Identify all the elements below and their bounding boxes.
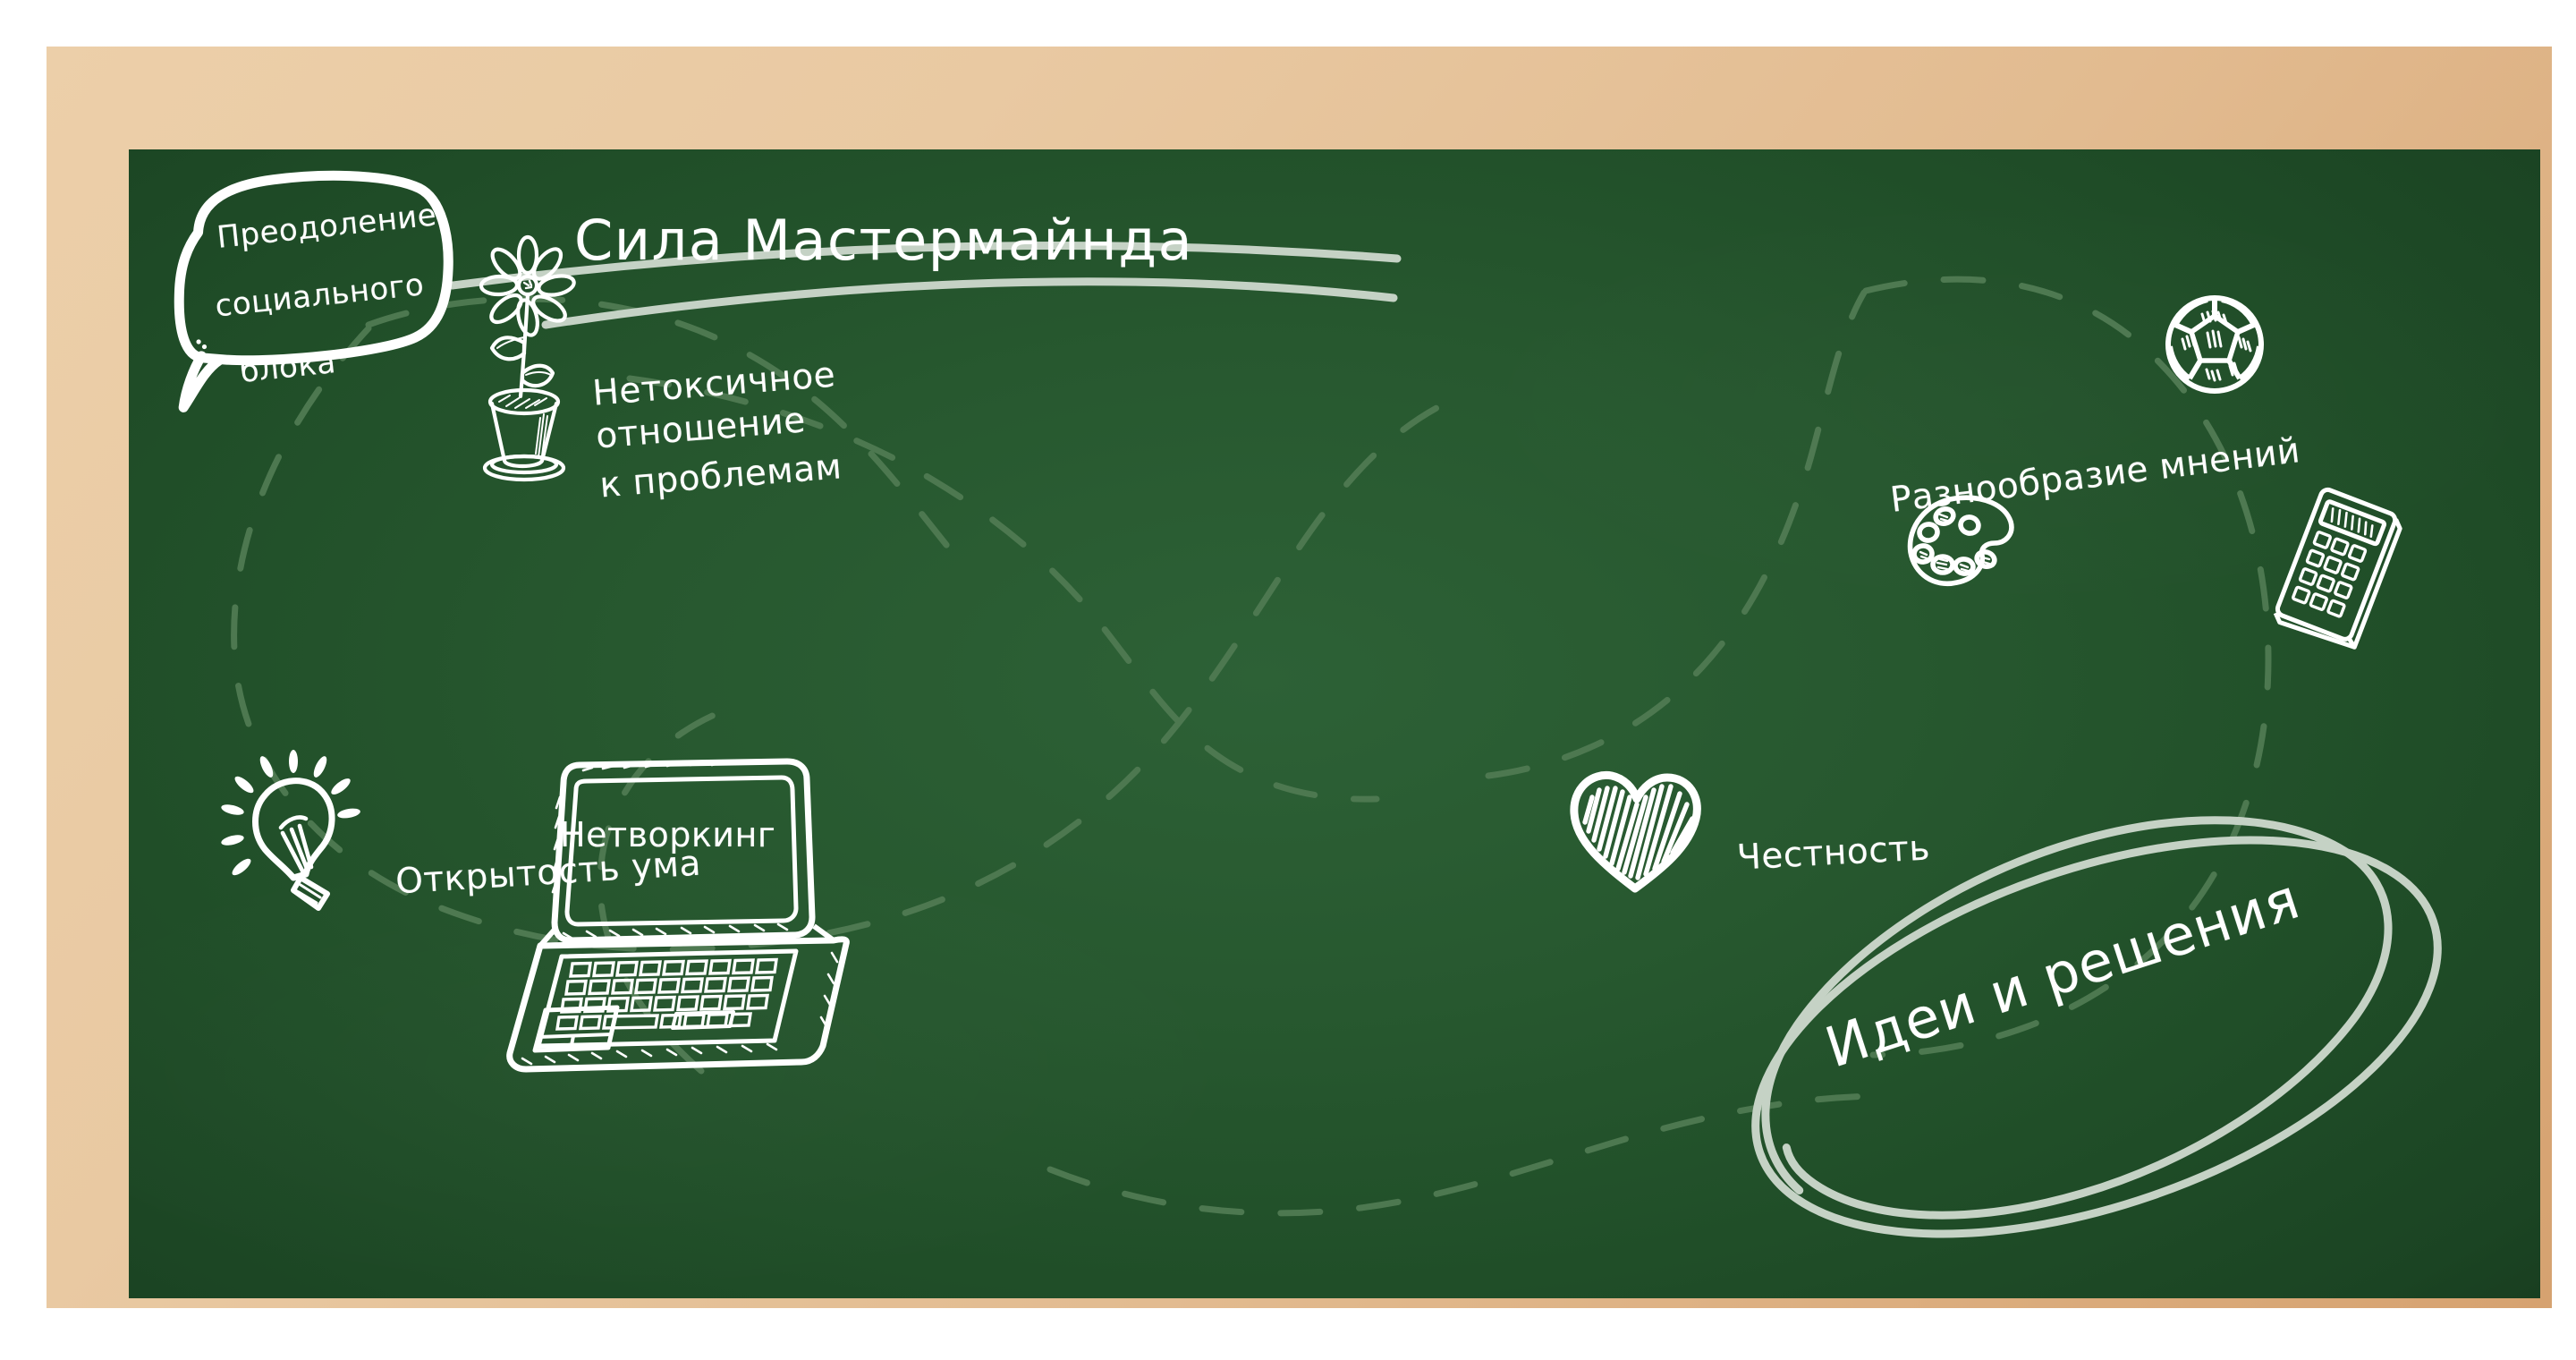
paint-palette-icon [1905, 491, 2021, 597]
page-title: Сила Мастермайнда [574, 208, 1193, 273]
calculator-icon [2272, 489, 2404, 650]
laptop-icon[interactable] [483, 754, 877, 1076]
lightbulb-icon [215, 751, 358, 912]
chalkboard-infographic: Сила Мастермайнда Преодоление социальног… [0, 0, 2576, 1360]
soccer-ball-icon [2161, 291, 2268, 398]
chalkboard-surface: Сила Мастермайнда Преодоление социальног… [129, 149, 2540, 1298]
board-frame: Сила Мастермайнда Преодоление социальног… [47, 47, 2552, 1308]
heart-icon [1569, 767, 1703, 892]
speech-bubble[interactable]: Преодоление социального блока [157, 159, 467, 412]
label-networking: Нетворкинг [560, 815, 775, 854]
flower-pot-icon [479, 239, 576, 489]
